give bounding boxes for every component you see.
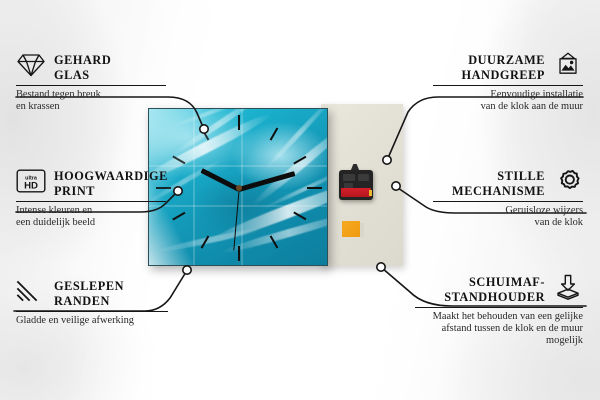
feature-description: Intense kleuren en een duidelijk beeld [16,205,166,229]
feature-gehard-glas: GEHARD GLAS Bestand tegen breuk en krass… [16,52,166,113]
gear-icon [553,168,583,199]
battery-terminal [369,190,372,196]
foam-spacer [342,221,360,237]
infographic-canvas: GEHARD GLAS Bestand tegen breuk en krass… [0,0,600,400]
diamond-icon [16,52,46,83]
feature-title: STILLE MECHANISME [452,169,545,198]
diagonal-lines-icon [16,278,46,309]
feature-divider [433,85,583,86]
arrow-down-pad-icon [553,274,583,305]
svg-text:HD: HD [24,181,38,192]
feature-title: HOOGWAARDIGE PRINT [54,169,168,198]
aa-battery [341,188,371,197]
clock-face [148,108,328,266]
feature-stille-mechanisme: STILLE MECHANISME Geruisloze wijzers van… [433,168,583,229]
feature-title: DUURZAME HANDGREEP [461,53,545,82]
feature-title: SCHUIMAF- STANDHOUDER [444,275,545,304]
pane-line-vertical [193,109,195,265]
picture-frame-icon [553,52,583,83]
product-image [148,108,403,268]
pane-line-horizontal [149,165,327,167]
feature-title: GESLEPEN RANDEN [54,279,124,308]
feature-description: Bestand tegen breuk en krassen [16,89,166,113]
feature-description: Eenvoudige installatie van de klok aan d… [433,89,583,113]
feature-description: Geruisloze wijzers van de klok [433,205,583,229]
feature-description: Gladde en veilige afwerking [16,315,168,327]
clock-center-hub [236,185,242,191]
feature-divider [415,307,583,308]
feature-divider [16,85,166,86]
feature-title: GEHARD GLAS [54,53,111,82]
feature-geslepen-randen: GESLEPEN RANDEN Gladde en veilige afwerk… [16,278,168,327]
feature-hoogwaardige-print: ultra HD HOOGWAARDIGE PRINT Intense kleu… [16,168,166,229]
feature-schuimafstandhouder: SCHUIMAF- STANDHOUDER Maakt het behouden… [415,274,583,348]
feature-divider [16,311,168,312]
feature-divider [16,201,166,202]
ultra-hd-icon: ultra HD [16,168,46,199]
feature-divider [433,201,583,202]
feature-description: Maakt het behouden van een gelijke afsta… [415,311,583,348]
feature-duurzame-handgreep: DUURZAME HANDGREEP Eenvoudige installati… [433,52,583,113]
foam-spacer-edge [360,223,364,237]
